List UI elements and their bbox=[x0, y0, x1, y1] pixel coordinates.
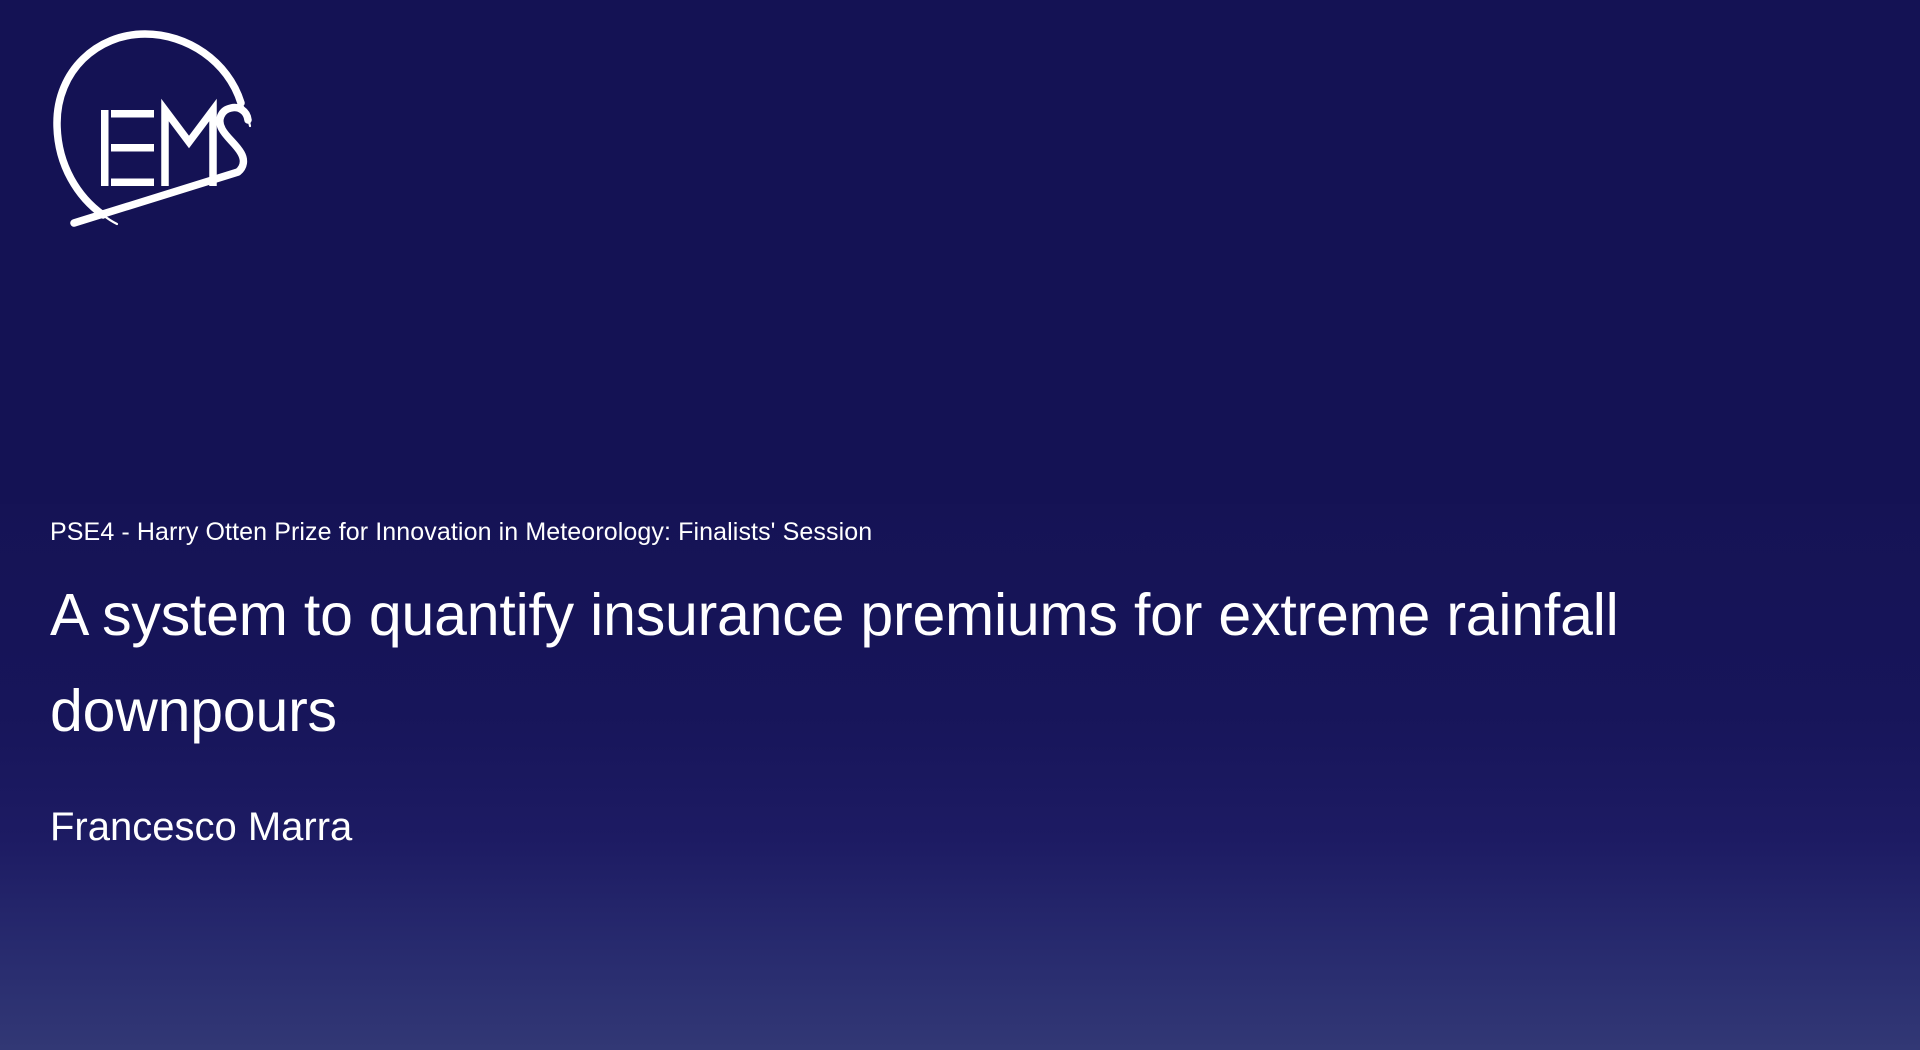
logo-letter-e-bar-top bbox=[111, 110, 154, 118]
logo-letter-m bbox=[165, 110, 213, 186]
slide-text-block: PSE4 - Harry Otten Prize for Innovation … bbox=[50, 515, 1880, 855]
logo-letter-e-bar-bottom bbox=[111, 179, 154, 187]
session-label: PSE4 - Harry Otten Prize for Innovation … bbox=[50, 515, 1880, 549]
page-title: A system to quantify insurance premiums … bbox=[50, 567, 1840, 759]
logo-letter-s-and-baseline bbox=[74, 108, 248, 223]
logo-letter-e-bar-middle bbox=[111, 144, 154, 152]
title-slide: PSE4 - Harry Otten Prize for Innovation … bbox=[0, 0, 1920, 1050]
ems-logo bbox=[45, 26, 255, 231]
author-name: Francesco Marra bbox=[50, 799, 1880, 855]
ems-logo-icon bbox=[45, 26, 255, 231]
logo-letter-e-stem bbox=[101, 110, 109, 186]
